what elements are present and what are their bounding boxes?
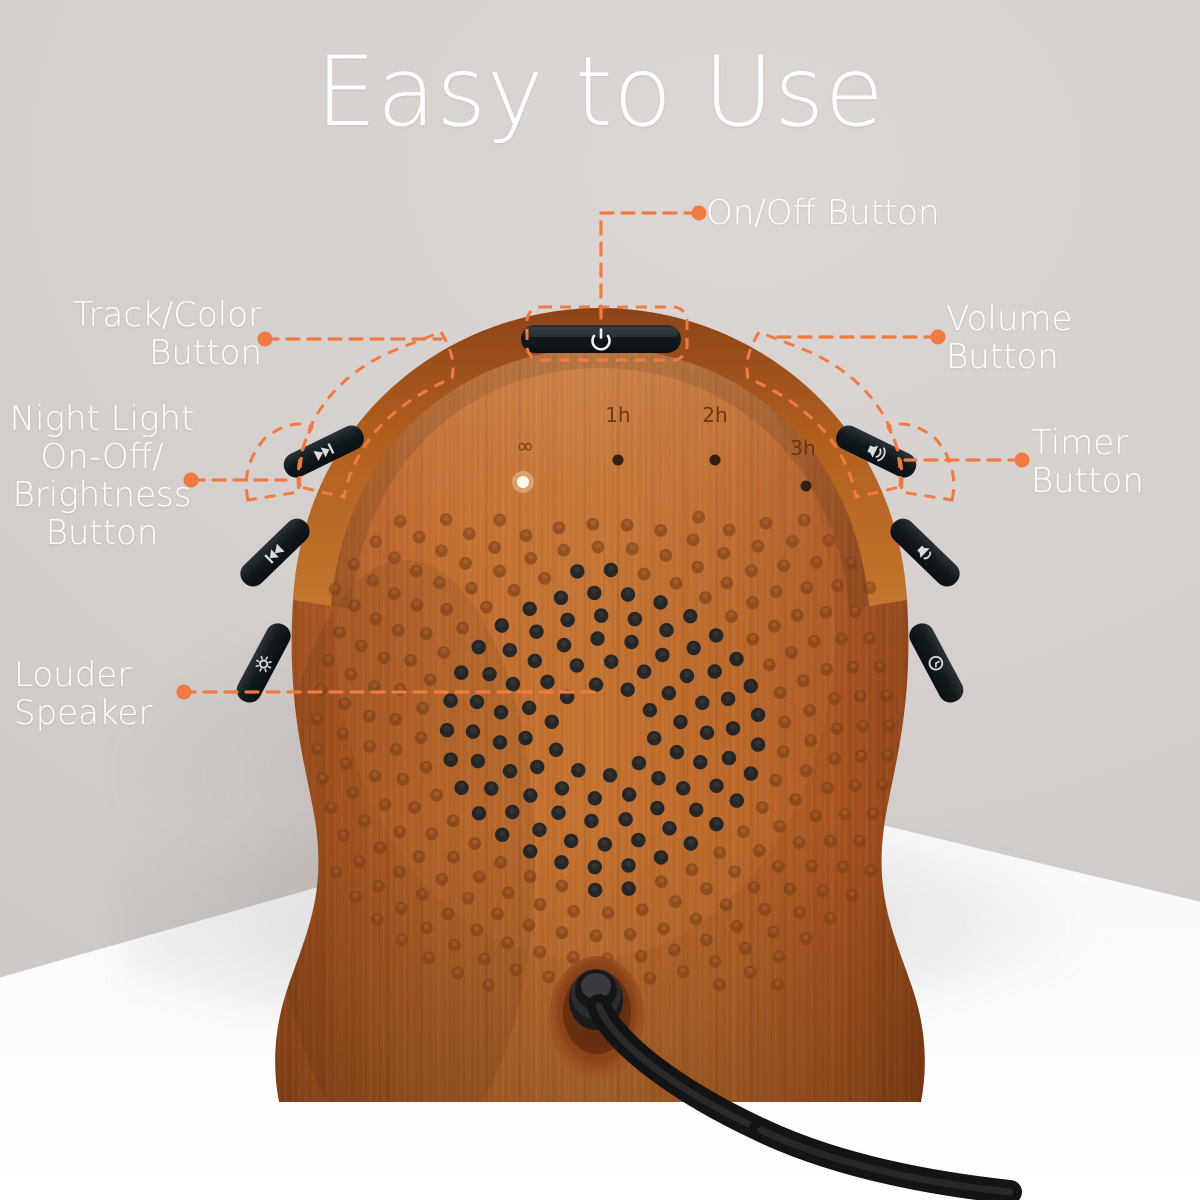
- timer-led-1h: [613, 455, 624, 466]
- infographic-canvas: Easy to Use: [0, 0, 1200, 1200]
- callout-volume-button: Volume Button: [946, 300, 1072, 376]
- callout-louder-speaker: Louder Speaker: [14, 656, 152, 732]
- page-title: Easy to Use: [0, 44, 1200, 140]
- timer-label-3h: 3h: [790, 436, 815, 460]
- timer-led-3h: [801, 481, 812, 492]
- timer-label-2h: 2h: [702, 403, 727, 427]
- timer-led-2h: [710, 455, 721, 466]
- callout-track-color: Track/Color Button: [6, 296, 262, 372]
- timer-label-1h: 1h: [605, 403, 630, 427]
- timer-button[interactable]: [905, 619, 967, 707]
- power-button[interactable]: [521, 325, 681, 353]
- timer-label-infinity: ∞: [516, 434, 534, 458]
- callout-on-off-button: On/Off Button: [706, 194, 940, 232]
- night-light-button[interactable]: [232, 619, 294, 707]
- device-illustration: ∞ 1h 2h 3h: [155, 300, 1045, 1130]
- callout-timer-button: Timer Button: [1031, 424, 1144, 500]
- callout-night-light: Night Light On-Off/ Brightness Button: [4, 400, 200, 552]
